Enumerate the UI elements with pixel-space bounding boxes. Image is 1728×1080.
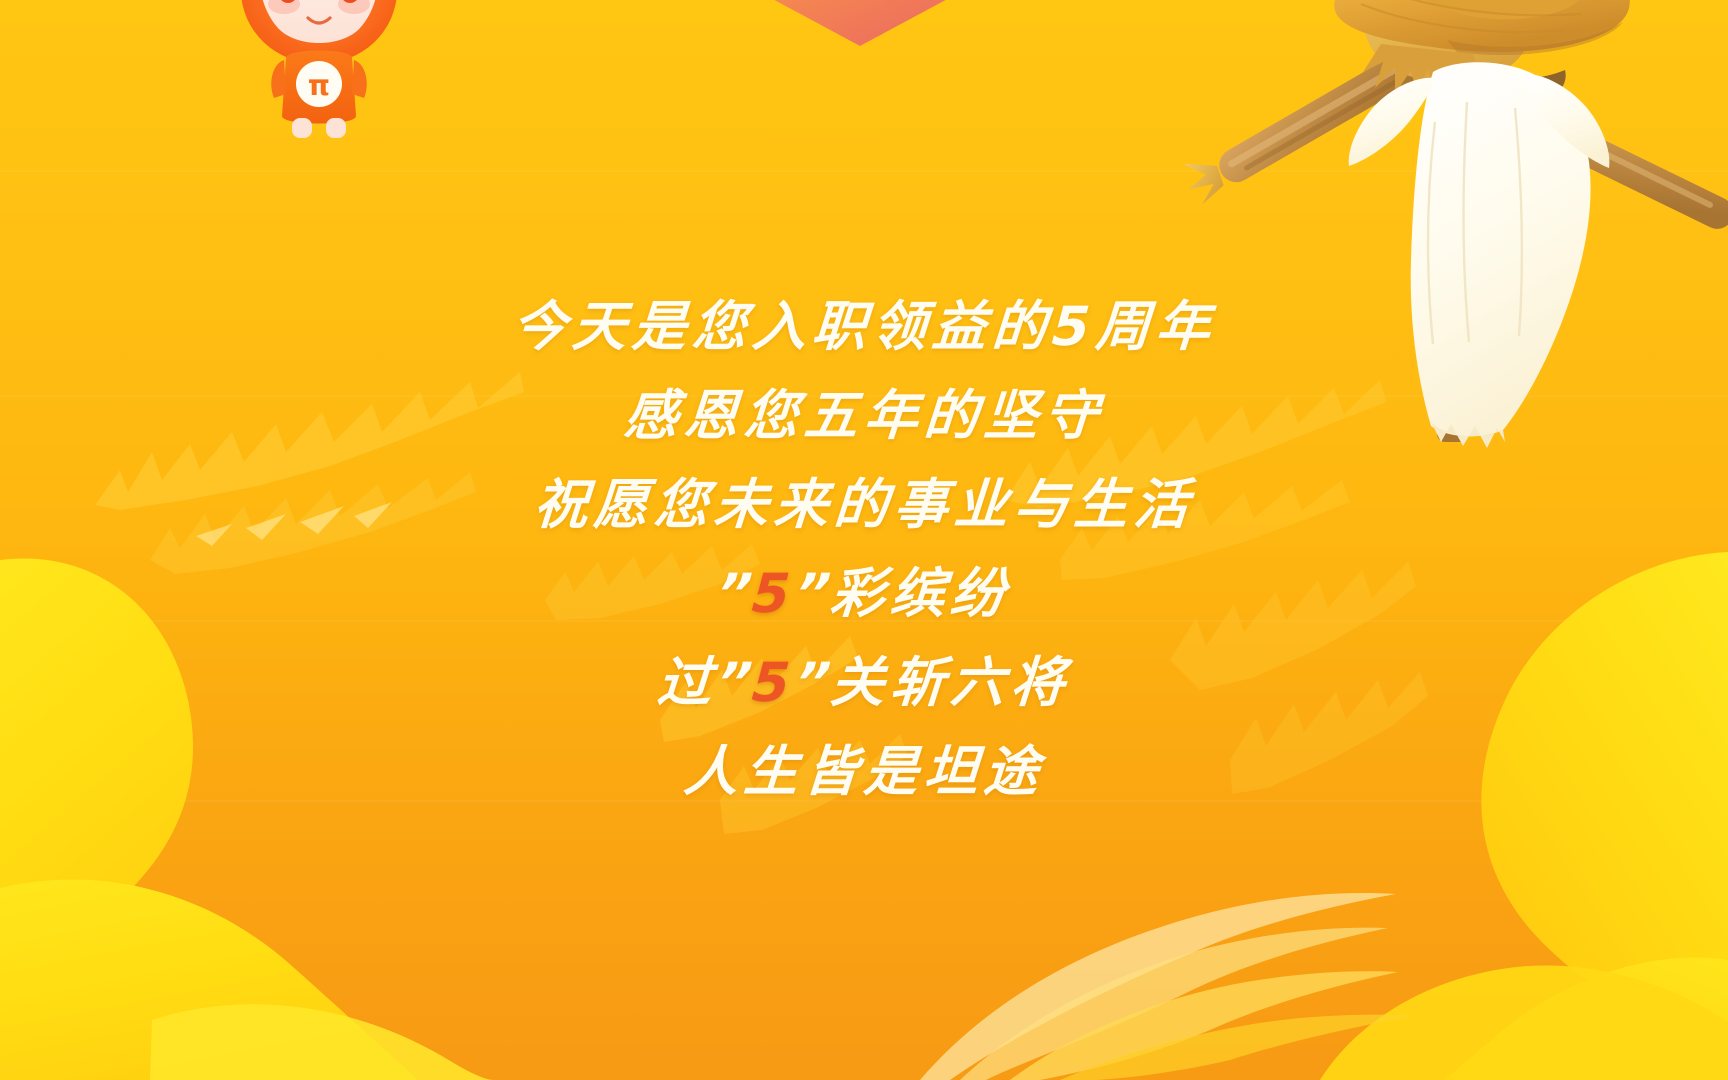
greeting-message-block: 今天是您入职领益的5周年 感恩您五年的坚守 祝愿您未来的事业与生活 ”5”彩缤纷… <box>0 300 1728 799</box>
line-4-suffix: 彩缤纷 <box>828 562 1012 625</box>
svg-text:π: π <box>308 69 330 102</box>
line-5-suffix: 关斩六将 <box>828 651 1072 714</box>
company-mascot-icon: π <box>228 0 410 148</box>
blob-left-accent <box>150 1004 494 1080</box>
line-5-prefix: 过 <box>655 651 719 714</box>
message-line-5: 过”5”关斩六将 <box>0 656 1728 710</box>
greeting-card-canvas: π <box>0 0 1728 1080</box>
message-line-3: 祝愿您未来的事业与生活 <box>0 478 1728 532</box>
line-5-open-quote: ” <box>715 651 754 714</box>
line-5-highlight: 5 <box>750 651 798 714</box>
line-4-close-quote: ” <box>794 562 833 625</box>
message-line-1: 今天是您入职领益的5周年 <box>0 300 1728 354</box>
line-4-highlight: 5 <box>750 562 798 625</box>
message-line-6: 人生皆是坦途 <box>0 745 1728 799</box>
message-line-2: 感恩您五年的坚守 <box>0 389 1728 443</box>
grass-strands <box>920 893 1414 1080</box>
line-5-close-quote: ” <box>794 651 833 714</box>
line-4-open-quote: ” <box>715 562 754 625</box>
message-line-4: ”5”彩缤纷 <box>0 567 1728 621</box>
